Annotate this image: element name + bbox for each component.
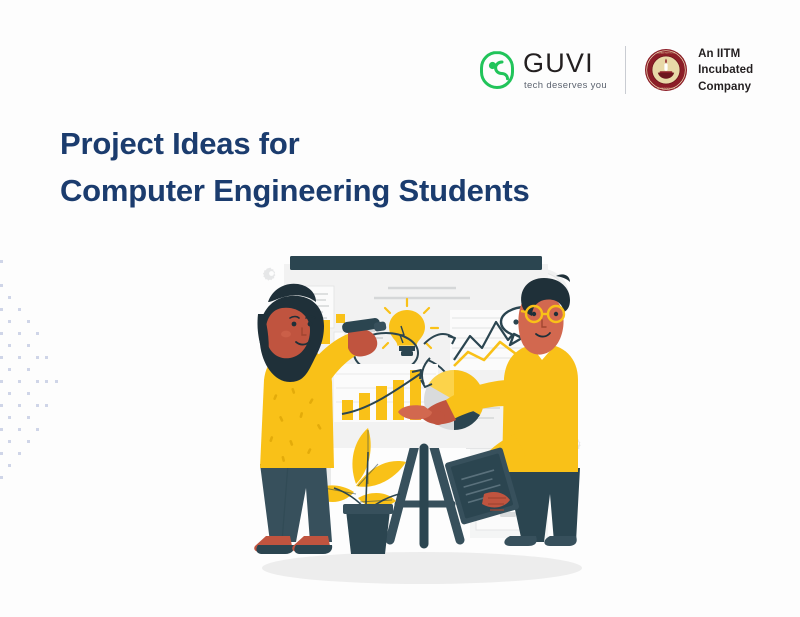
iitm-line-3: Company bbox=[698, 79, 753, 95]
banner: GUVI tech deserves you INDIAN INSTITUTE … bbox=[0, 0, 800, 617]
woman-trousers bbox=[260, 464, 332, 542]
vertical-divider bbox=[625, 46, 626, 94]
iitm-incubated-text: An IITM Incubated Company bbox=[698, 46, 753, 95]
page-title-line-2: Computer Engineering Students bbox=[60, 167, 530, 214]
plant-pot bbox=[346, 510, 390, 554]
page-title-line-1: Project Ideas for bbox=[60, 120, 530, 167]
iitm-line-2: Incubated bbox=[698, 62, 753, 78]
guvi-wordmark: GUVI bbox=[523, 50, 607, 77]
woman-shoe-left bbox=[256, 545, 294, 554]
brand-lockup: GUVI tech deserves you INDIAN INSTITUTE … bbox=[480, 46, 753, 95]
guvi-g-logomark bbox=[480, 51, 514, 89]
guvi-tagline: tech deserves you bbox=[523, 81, 607, 91]
ground-shadow bbox=[262, 552, 582, 584]
guvi-logo[interactable]: GUVI tech deserves you bbox=[480, 50, 607, 91]
woman-shoe-right bbox=[294, 545, 332, 554]
whiteboard-header-bar bbox=[290, 256, 542, 270]
decorative-dot-pattern bbox=[0, 250, 70, 520]
man-shoe-left bbox=[504, 536, 536, 546]
page-title: Project Ideas for Computer Engineering S… bbox=[60, 120, 530, 215]
iitm-line-1: An IITM bbox=[698, 46, 753, 62]
svg-text:OF TECHNOLOGY: OF TECHNOLOGY bbox=[657, 89, 676, 91]
iitm-madras-seal-icon: INDIAN INSTITUTE OF TECHNOLOGY bbox=[644, 48, 688, 92]
hero-illustration bbox=[238, 248, 606, 598]
iitm-incubated-badge[interactable]: INDIAN INSTITUTE OF TECHNOLOGY An IITM I… bbox=[644, 46, 753, 95]
man-shoe-right bbox=[544, 536, 576, 546]
svg-text:INDIAN INSTITUTE: INDIAN INSTITUTE bbox=[657, 52, 676, 55]
